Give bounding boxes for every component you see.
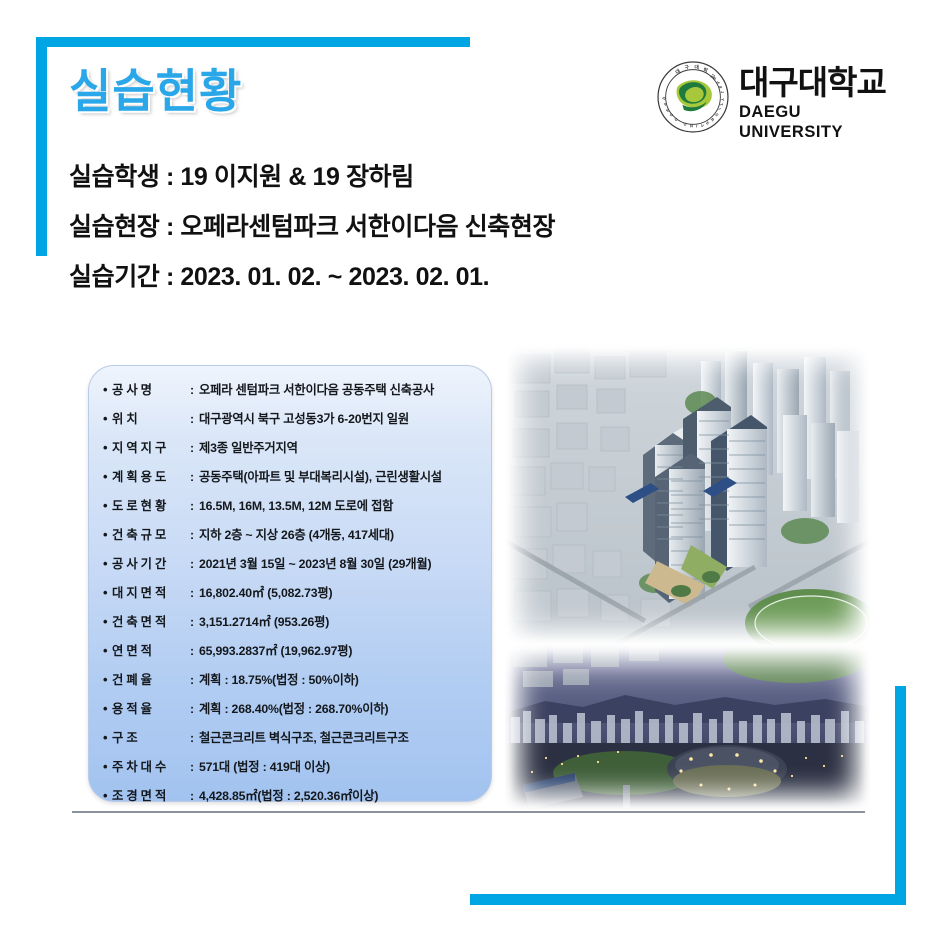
spec-value: 지하 2층 ~ 지상 26층 (4개동, 417세대) — [199, 528, 477, 542]
spec-row: •건 축 면 적:3,151.2714㎡ (953.26평) — [103, 615, 477, 644]
spec-row: •공 사 명:오페라 센텀파크 서한이다음 공동주택 신축공사 — [103, 383, 477, 412]
logo-wordmark: 대구대학교 DAEGU UNIVERSITY — [739, 64, 890, 142]
spec-value: 계획 : 268.40%(법정 : 268.70%이하) — [199, 702, 477, 716]
spec-separator: : — [190, 557, 199, 571]
spec-separator: : — [190, 412, 199, 426]
spec-separator: : — [190, 441, 199, 455]
spec-separator: : — [190, 789, 199, 803]
slide-page: 실습현황 실습학생 : 19 이지원 & 19 장하림 실습현장 : 오페라센텀… — [0, 0, 945, 945]
spec-label: 위 치 — [112, 412, 190, 426]
spec-separator: : — [190, 702, 199, 716]
spec-value: 4,428.85㎡(법정 : 2,520.36㎡이상) — [199, 789, 477, 803]
spec-value: 65,993.2837㎡ (19,962.97평) — [199, 644, 477, 658]
spec-value: 계획 : 18.75%(법정 : 50%이하) — [199, 673, 477, 687]
bullet-icon: • — [103, 586, 112, 600]
spec-value: 대구광역시 북구 고성동3가 6-20번지 일원 — [199, 412, 477, 426]
spec-separator: : — [190, 731, 199, 745]
spec-separator: : — [190, 586, 199, 600]
page-title: 실습현황 — [69, 68, 242, 114]
bullet-icon: • — [103, 673, 112, 687]
bullet-icon: • — [103, 383, 112, 397]
spec-separator: : — [190, 499, 199, 513]
spec-label: 건 폐 율 — [112, 673, 190, 687]
spec-label: 건 축 면 적 — [112, 615, 190, 629]
spec-label: 지 역 지 구 — [112, 441, 190, 455]
header-line-site: 실습현장 : 오페라센텀파크 서한이다음 신축현장 — [69, 202, 555, 252]
spec-row: •용 적 율:계획 : 268.40%(법정 : 268.70%이하) — [103, 702, 477, 731]
spec-label: 조 경 면 적 — [112, 789, 190, 803]
spec-value: 철근콘크리트 벽식구조, 철근콘크리트구조 — [199, 731, 477, 745]
spec-value: 제3종 일반주거지역 — [199, 441, 477, 455]
svg-text:N: N — [690, 123, 693, 128]
spec-value: 571대 (법정 : 419대 이상) — [199, 760, 477, 774]
spec-label: 건 축 규 모 — [112, 528, 190, 542]
spec-row: •공 사 기 간:2021년 3월 15일 ~ 2023년 8월 30일 (29… — [103, 557, 477, 586]
spec-row: •대 지 면 적:16,802.40㎡ (5,082.73평) — [103, 586, 477, 615]
spec-row: •주 차 대 수:571대 (법정 : 419대 이상) — [103, 760, 477, 789]
spec-separator: : — [190, 528, 199, 542]
bullet-icon: • — [103, 557, 112, 571]
top-left-bracket-horizontal — [36, 37, 470, 47]
spec-row: •연 면 적:65,993.2837㎡ (19,962.97평) — [103, 644, 477, 673]
spec-row: •조 경 면 적:4,428.85㎡(법정 : 2,520.36㎡이상) — [103, 789, 477, 818]
spec-row: •계 획 용 도:공동주택(아파트 및 부대복리시설), 근린생활시설 — [103, 470, 477, 499]
spec-separator: : — [190, 644, 199, 658]
logo-name-ko: 대구대학교 — [739, 64, 886, 101]
spec-row: •구 조:철근콘크리트 벽식구조, 철근콘크리트구조 — [103, 731, 477, 760]
project-spec-box: •공 사 명:오페라 센텀파크 서한이다음 공동주택 신축공사•위 치:대구광역… — [88, 365, 492, 802]
bullet-icon: • — [103, 615, 112, 629]
header-info-block: 실습학생 : 19 이지원 & 19 장하림 실습현장 : 오페라센텀파크 서한… — [69, 152, 555, 302]
spec-label: 계 획 용 도 — [112, 470, 190, 484]
spec-separator: : — [190, 615, 199, 629]
bottom-right-bracket-vertical — [895, 686, 906, 905]
bullet-icon: • — [103, 731, 112, 745]
spec-label: 구 조 — [112, 731, 190, 745]
spec-label: 연 면 적 — [112, 644, 190, 658]
spec-row: •건 축 규 모:지하 2층 ~ 지상 26층 (4개동, 417세대) — [103, 528, 477, 557]
bullet-icon: • — [103, 499, 112, 513]
spec-separator: : — [190, 383, 199, 397]
header-line-period: 실습기간 : 2023. 01. 02. ~ 2023. 02. 01. — [69, 252, 555, 302]
spec-label: 도 로 현 황 — [112, 499, 190, 513]
photo-aerial-rendering — [505, 345, 870, 645]
bullet-icon: • — [103, 470, 112, 484]
spec-separator: : — [190, 470, 199, 484]
daegu-university-emblem-icon: 대 구 대 학 교 D A E G U U N I V E R — [655, 59, 731, 135]
bullet-icon: • — [103, 760, 112, 774]
spec-label: 대 지 면 적 — [112, 586, 190, 600]
spec-value: 공동주택(아파트 및 부대복리시설), 근린생활시설 — [199, 470, 477, 484]
spec-row: •지 역 지 구:제3종 일반주거지역 — [103, 441, 477, 470]
bullet-icon: • — [103, 644, 112, 658]
bullet-icon: • — [103, 702, 112, 716]
photo-night-cityscape — [505, 645, 870, 810]
spec-label: 공 사 기 간 — [112, 557, 190, 571]
spec-label: 주 차 대 수 — [112, 760, 190, 774]
logo-name-en: DAEGU UNIVERSITY — [739, 103, 843, 141]
spec-row: •위 치:대구광역시 북구 고성동3가 6-20번지 일원 — [103, 412, 477, 441]
bullet-icon: • — [103, 789, 112, 803]
header-line-student: 실습학생 : 19 이지원 & 19 장하림 — [69, 152, 555, 202]
spec-value: 16.5M, 16M, 13.5M, 12M 도로에 접함 — [199, 499, 477, 513]
spec-row: •건 폐 율:계획 : 18.75%(법정 : 50%이하) — [103, 673, 477, 702]
spec-separator: : — [190, 760, 199, 774]
spec-separator: : — [190, 673, 199, 687]
bullet-icon: • — [103, 441, 112, 455]
spec-value: 오페라 센텀파크 서한이다음 공동주택 신축공사 — [199, 383, 477, 397]
bullet-icon: • — [103, 412, 112, 426]
spec-value: 16,802.40㎡ (5,082.73평) — [199, 586, 477, 600]
spec-value: 2021년 3월 15일 ~ 2023년 8월 30일 (29개월) — [199, 557, 477, 571]
spec-label: 용 적 율 — [112, 702, 190, 716]
spec-value: 3,151.2714㎡ (953.26평) — [199, 615, 477, 629]
university-logo: 대 구 대 학 교 D A E G U U N I V E R — [655, 58, 890, 140]
bullet-icon: • — [103, 528, 112, 542]
top-left-bracket-vertical — [36, 37, 47, 256]
bottom-right-bracket-horizontal — [470, 894, 906, 905]
spec-label: 공 사 명 — [112, 383, 190, 397]
spec-row: •도 로 현 황:16.5M, 16M, 13.5M, 12M 도로에 접함 — [103, 499, 477, 528]
